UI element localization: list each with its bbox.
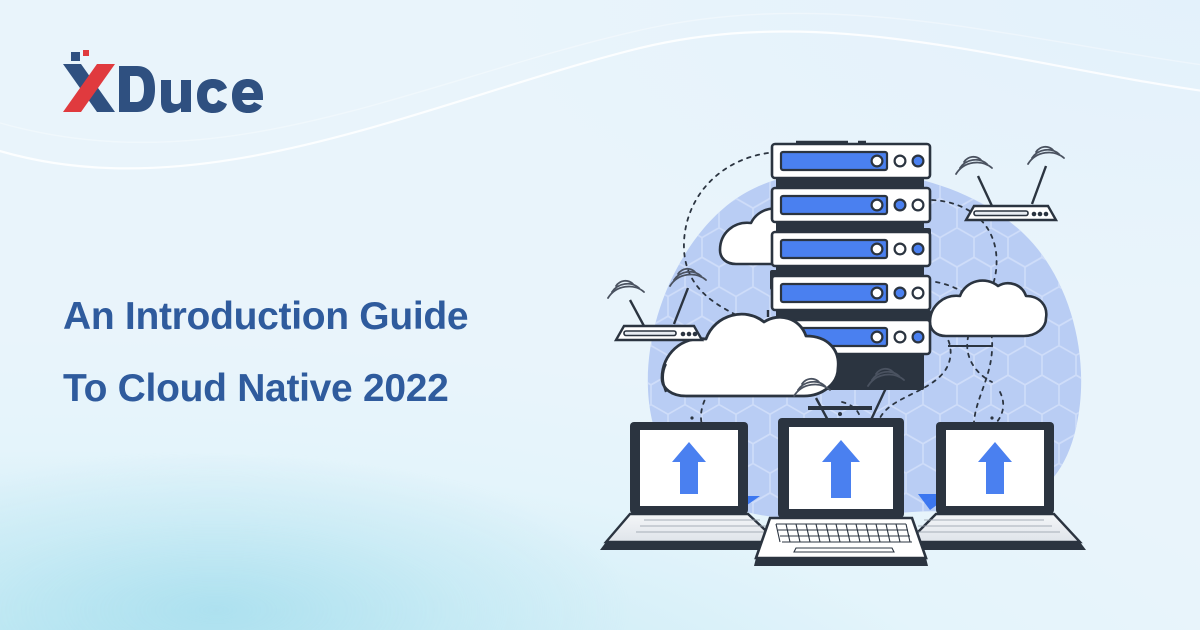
banner-canvas: An Introduction Guide To Cloud Native 20… xyxy=(0,0,1200,630)
laptop-center xyxy=(754,406,928,566)
server-unit xyxy=(772,276,930,310)
server-unit xyxy=(772,144,930,178)
server-unit xyxy=(772,232,930,266)
page-title: An Introduction Guide To Cloud Native 20… xyxy=(63,281,583,425)
router-right xyxy=(956,147,1064,220)
server-unit xyxy=(772,188,930,222)
headline-line-1: An Introduction Guide xyxy=(63,281,583,353)
xduce-logo[interactable] xyxy=(57,50,267,116)
wifi-waves-icon xyxy=(956,147,1064,174)
headline-line-2: To Cloud Native 2022 xyxy=(63,353,583,425)
logo-wordmark-shapes xyxy=(119,66,263,113)
logo-square-navy-icon xyxy=(71,52,80,61)
logo-square-red-icon xyxy=(83,50,89,56)
cloud-native-illustration xyxy=(600,110,1110,580)
